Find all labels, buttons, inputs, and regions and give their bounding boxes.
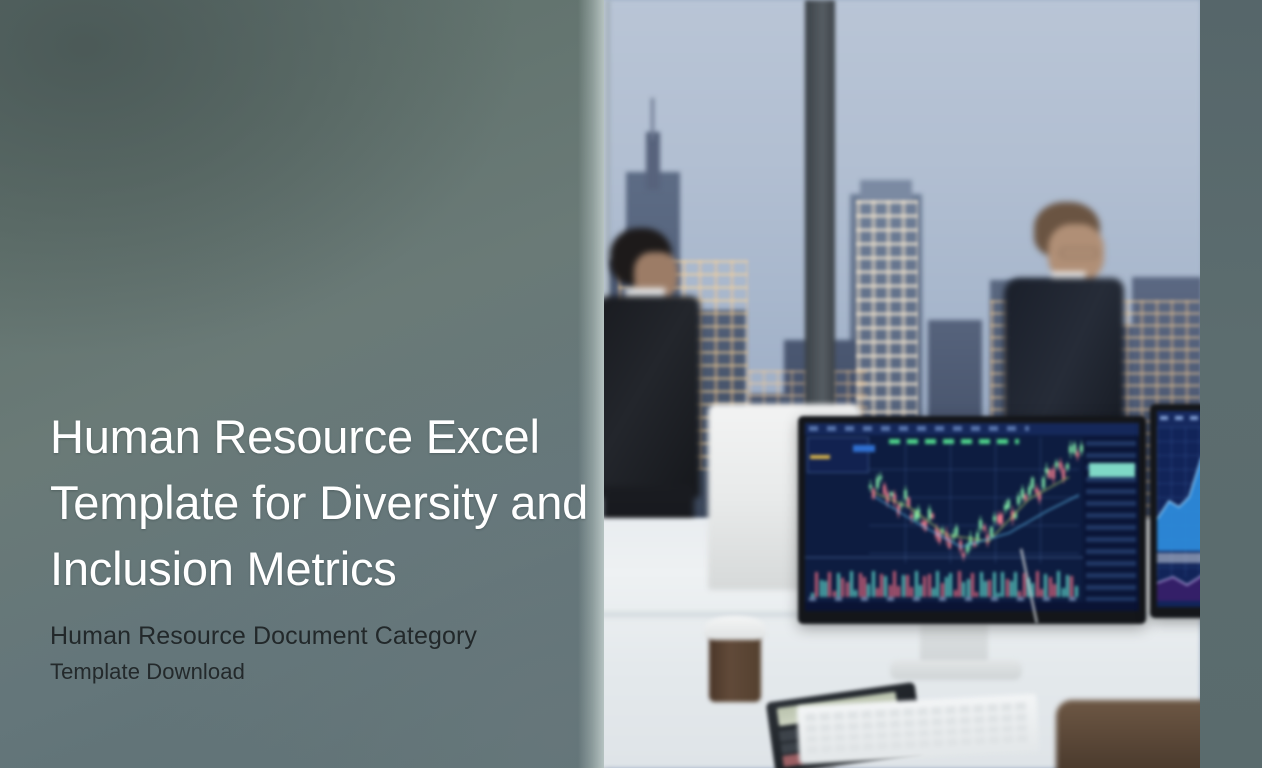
volume-bar — [962, 582, 965, 597]
volume-bar — [1053, 584, 1056, 597]
building-spire-needle — [651, 98, 654, 140]
volume-bar — [867, 584, 870, 597]
secondary-divider — [1157, 553, 1200, 563]
volume-bar — [1049, 577, 1052, 597]
volume-bar — [954, 590, 957, 597]
volume-bar — [1075, 586, 1078, 597]
chart-toolbar-ticks — [809, 426, 1029, 431]
volume-bar — [936, 571, 939, 597]
volume-bar — [988, 580, 991, 597]
volume-bar — [984, 581, 987, 597]
monitor-stand-base — [890, 660, 1022, 680]
chart-info-row-amber — [810, 455, 830, 459]
volume-bar — [902, 575, 905, 597]
volume-bar — [945, 577, 948, 597]
keyboard-rows — [805, 702, 1031, 754]
volume-bar — [850, 571, 853, 597]
moving-average-lines — [869, 437, 1083, 565]
chart-status-bar — [805, 602, 1139, 611]
volume-bar — [897, 586, 900, 597]
volume-bar — [1001, 572, 1004, 597]
volume-bar — [1010, 581, 1013, 597]
office-chair — [1056, 700, 1200, 768]
hero-photo — [598, 0, 1200, 768]
coffee-cup-lid — [704, 616, 766, 640]
volume-bar — [941, 583, 944, 597]
volume-bar — [846, 582, 849, 597]
volume-series — [809, 563, 1081, 597]
volume-bar — [1070, 576, 1073, 597]
chart-x-axis-labels — [809, 597, 1081, 601]
volume-bar — [967, 579, 970, 597]
volume-bar — [906, 575, 909, 597]
volume-bar — [1006, 579, 1009, 597]
volume-bar — [923, 576, 926, 597]
secondary-toolbar-ticks — [1160, 416, 1200, 420]
secondary-sub-chart — [1157, 565, 1200, 601]
text-panel — [0, 0, 604, 768]
page-title: Human Resource Excel Template for Divers… — [50, 404, 590, 602]
volume-bar — [889, 585, 892, 597]
volume-bar — [863, 577, 866, 597]
volume-bar — [1014, 572, 1017, 597]
volume-bar — [828, 572, 831, 597]
volume-bar — [859, 573, 862, 597]
volume-bar — [1040, 589, 1043, 597]
volume-bar — [958, 571, 961, 597]
volume-bar — [872, 571, 875, 597]
volume-bar — [1036, 571, 1039, 597]
order-book-highlight — [1089, 463, 1135, 477]
volume-bar — [910, 587, 913, 597]
volume-bar — [993, 572, 996, 597]
volume-bar — [949, 573, 952, 597]
secondary-monitor — [1150, 404, 1200, 618]
volume-bar — [1044, 574, 1047, 597]
volume-bar — [915, 571, 918, 597]
volume-bar — [893, 571, 896, 597]
volume-bar — [815, 572, 818, 597]
right-color-band — [1200, 0, 1262, 768]
volume-bar — [837, 573, 840, 597]
trading-monitor — [798, 416, 1146, 624]
trading-chart-screen — [805, 423, 1139, 611]
volume-bar — [971, 573, 974, 597]
secondary-area-chart — [1157, 441, 1200, 551]
volume-bar — [932, 588, 935, 597]
volume-bar — [854, 590, 857, 597]
volume-panel-divider — [805, 557, 1083, 558]
coffee-cup — [709, 634, 761, 702]
volume-bar — [884, 576, 887, 597]
document-category-label: Human Resource Document Category — [50, 622, 477, 651]
volume-bar — [928, 574, 931, 597]
volume-bar — [824, 581, 827, 597]
slide-canvas: Human Resource Excel Template for Divers… — [0, 0, 1262, 768]
volume-bar — [1062, 588, 1065, 597]
building-tower-cap — [860, 180, 912, 202]
volume-bar — [841, 578, 844, 597]
template-download-label[interactable]: Template Download — [50, 659, 245, 685]
volume-bar — [980, 572, 983, 597]
building-spire-top — [646, 132, 660, 190]
volume-bar — [876, 588, 879, 597]
volume-bar — [1057, 571, 1060, 597]
volume-bar — [880, 574, 883, 597]
secondary-chart-screen — [1157, 411, 1200, 607]
volume-bar — [1066, 575, 1069, 597]
volume-bar — [919, 585, 922, 597]
volume-bar — [820, 580, 823, 597]
